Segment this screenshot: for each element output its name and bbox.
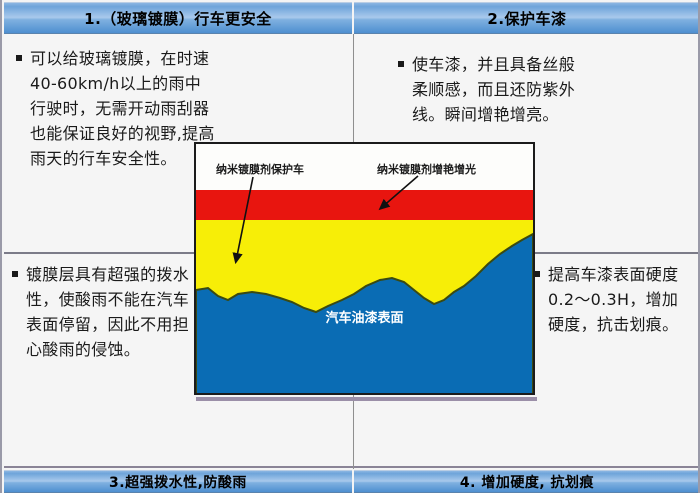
bullet-item-1: 可以给玻璃镀膜，在时速40-60km/h以上的雨中行驶时，无需开动雨刮器也能保证… <box>16 46 216 171</box>
diagram-label-surface: 汽车油漆表面 <box>196 307 533 326</box>
coating-layers-diagram: 纳米镀膜剂保护车 纳米镀膜剂增艳增光 汽车油漆表面 <box>194 142 535 395</box>
diagram-label-right: 纳米镀膜剂增艳增光 <box>377 161 476 177</box>
header-bar-3: 3.超强拨水性,防酸雨 <box>4 470 352 493</box>
bullet-text-3: 镀膜层具有超强的拨水性，使酸雨不能在汽车表面停留，因此不用担心酸雨的侵蚀。 <box>26 262 192 362</box>
bullet-square-icon <box>12 271 18 277</box>
slide-canvas: 1.（玻璃镀膜）行车更安全 2.保护车漆 可以给玻璃镀膜，在时速40-60km/… <box>0 0 700 493</box>
coating-layer-red <box>196 190 533 220</box>
header-title-4: 4. 增加硬度, 抗划痕 <box>460 472 594 492</box>
divider-horizontal-bottom <box>4 466 700 468</box>
bullet-square-icon <box>398 61 404 67</box>
header-bar-2: 2.保护车漆 <box>354 2 700 34</box>
diagram-shadow <box>196 397 537 401</box>
header-bar-4: 4. 增加硬度, 抗划痕 <box>354 470 700 493</box>
header-title-1: 1.（玻璃镀膜）行车更安全 <box>84 8 272 29</box>
header-title-2: 2.保护车漆 <box>487 8 566 29</box>
diagram-label-left: 纳米镀膜剂保护车 <box>216 161 304 177</box>
bullet-square-icon <box>16 55 22 61</box>
bullet-text-1: 可以给玻璃镀膜，在时速40-60km/h以上的雨中行驶时，无需开动雨刮器也能保证… <box>30 46 216 171</box>
bullet-item-3: 镀膜层具有超强的拨水性，使酸雨不能在汽车表面停留，因此不用担心酸雨的侵蚀。 <box>12 262 192 362</box>
bullet-text-4: 提高车漆表面硬度0.2～0.3H，增加硬度，抗击划痕。 <box>548 262 694 337</box>
bullet-item-2: 使车漆，并且具备丝般柔顺感，而且还防紫外线。瞬间增艳增亮。 <box>398 52 588 127</box>
header-bar-1: 1.（玻璃镀膜）行车更安全 <box>4 2 352 34</box>
bullet-item-4: 提高车漆表面硬度0.2～0.3H，增加硬度，抗击划痕。 <box>534 262 694 337</box>
header-title-3: 3.超强拨水性,防酸雨 <box>109 472 247 492</box>
bullet-text-2: 使车漆，并且具备丝般柔顺感，而且还防紫外线。瞬间增艳增亮。 <box>412 52 588 127</box>
